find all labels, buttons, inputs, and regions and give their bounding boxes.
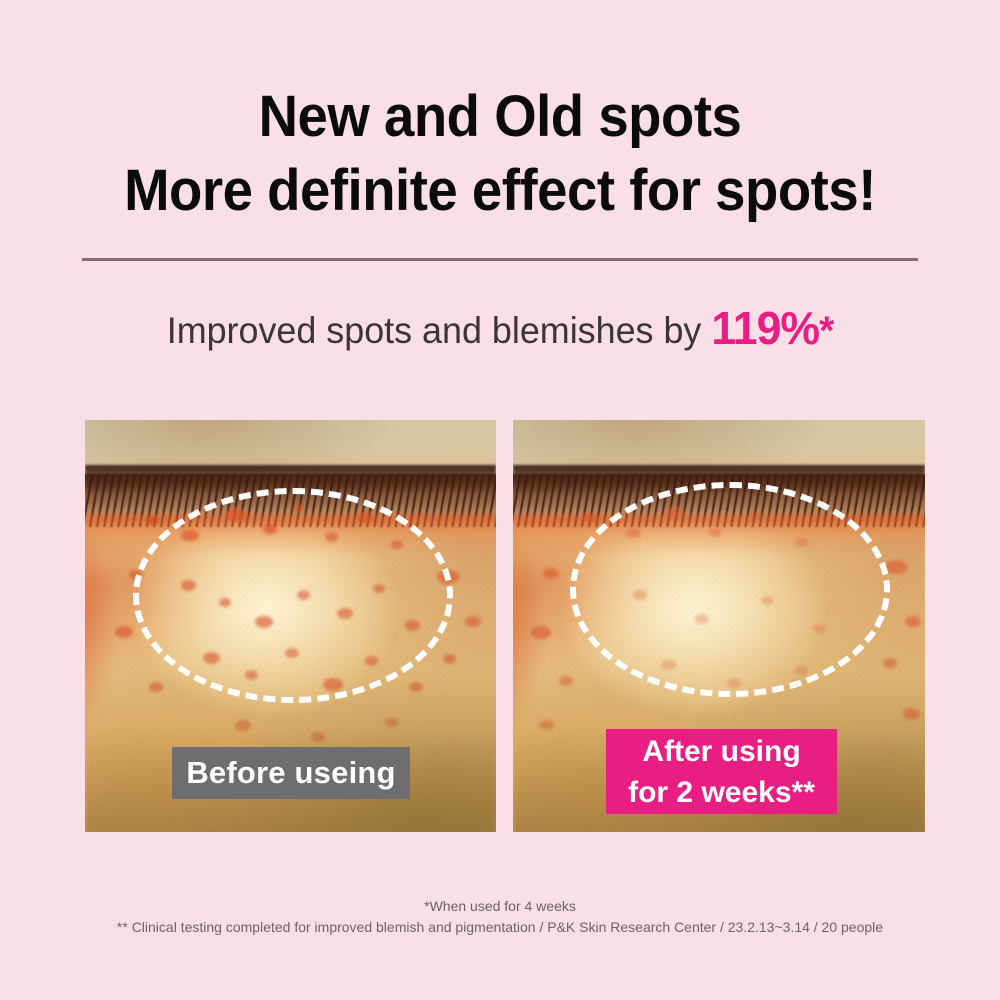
page-title: New and Old spots More definite effect f… xyxy=(30,80,970,228)
blemish-spot xyxy=(539,720,554,730)
status-badge-before: Before useing xyxy=(172,747,410,799)
status-badge-after-line-1: After using xyxy=(606,731,837,772)
footnote-marker-asterisk: * xyxy=(819,309,833,353)
status-badge-after: After using for 2 weeks** xyxy=(606,729,837,814)
footnote-line-1: *When used for 4 weeks xyxy=(0,896,1000,917)
page-title-line-2: More definite effect for spots! xyxy=(30,154,970,228)
blemish-spot xyxy=(531,626,551,639)
blemish-spot xyxy=(885,560,907,574)
blemish-spot xyxy=(235,720,251,731)
blemish-spot xyxy=(443,654,456,664)
blemish-spot xyxy=(905,616,921,627)
blemish-spot xyxy=(147,516,159,525)
subtitle: Improved spots and blemishes by 119%* xyxy=(15,303,985,356)
blemish-spot xyxy=(559,676,573,686)
footnotes: *When used for 4 weeks ** Clinical testi… xyxy=(0,896,1000,938)
blemish-spot xyxy=(311,732,325,742)
blemish-spot xyxy=(583,512,597,522)
status-badge-after-line-2: for 2 weeks** xyxy=(606,772,837,813)
highlight-ellipse-after xyxy=(570,482,890,697)
percent-value: 119% xyxy=(711,302,819,354)
footnote-line-2: ** Clinical testing completed for improv… xyxy=(0,917,1000,938)
blemish-spot xyxy=(543,568,559,579)
highlight-ellipse-before xyxy=(133,488,453,703)
blemish-spot xyxy=(149,682,163,692)
page-title-line-1: New and Old spots xyxy=(30,80,970,154)
blemish-spot xyxy=(903,708,920,720)
blemish-spot xyxy=(465,616,481,627)
blemish-spot xyxy=(115,626,133,638)
blemish-spot xyxy=(883,658,897,668)
subtitle-percent-highlight: 119%* xyxy=(711,302,833,354)
divider xyxy=(82,258,918,261)
subtitle-text: Improved spots and blemishes by xyxy=(167,310,712,351)
blemish-spot xyxy=(409,682,423,692)
blemish-spot xyxy=(385,718,398,727)
